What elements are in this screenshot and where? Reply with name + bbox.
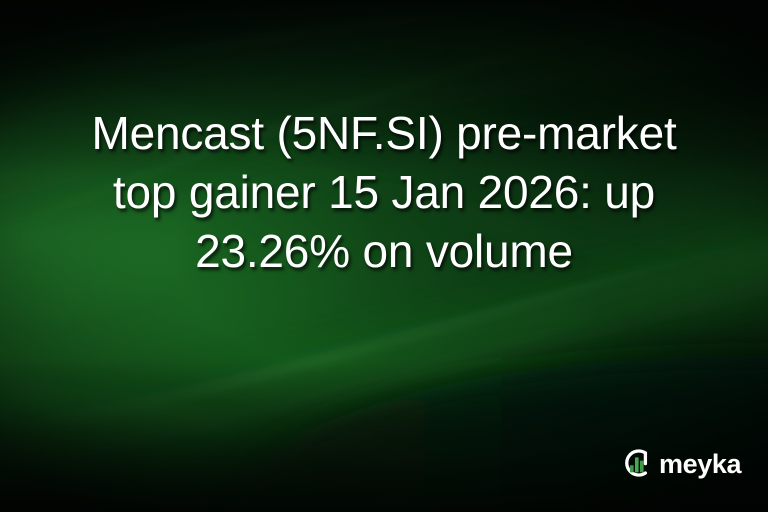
social-share-card: Mencast (5NF.SI) pre-market top gainer 1… xyxy=(0,0,768,512)
headline-text: Mencast (5NF.SI) pre-market top gainer 1… xyxy=(48,104,720,281)
bar-chart-in-ring-icon xyxy=(620,446,654,480)
brand-wordmark: meyka xyxy=(659,451,741,478)
brand-logo[interactable]: meyka xyxy=(620,446,741,480)
